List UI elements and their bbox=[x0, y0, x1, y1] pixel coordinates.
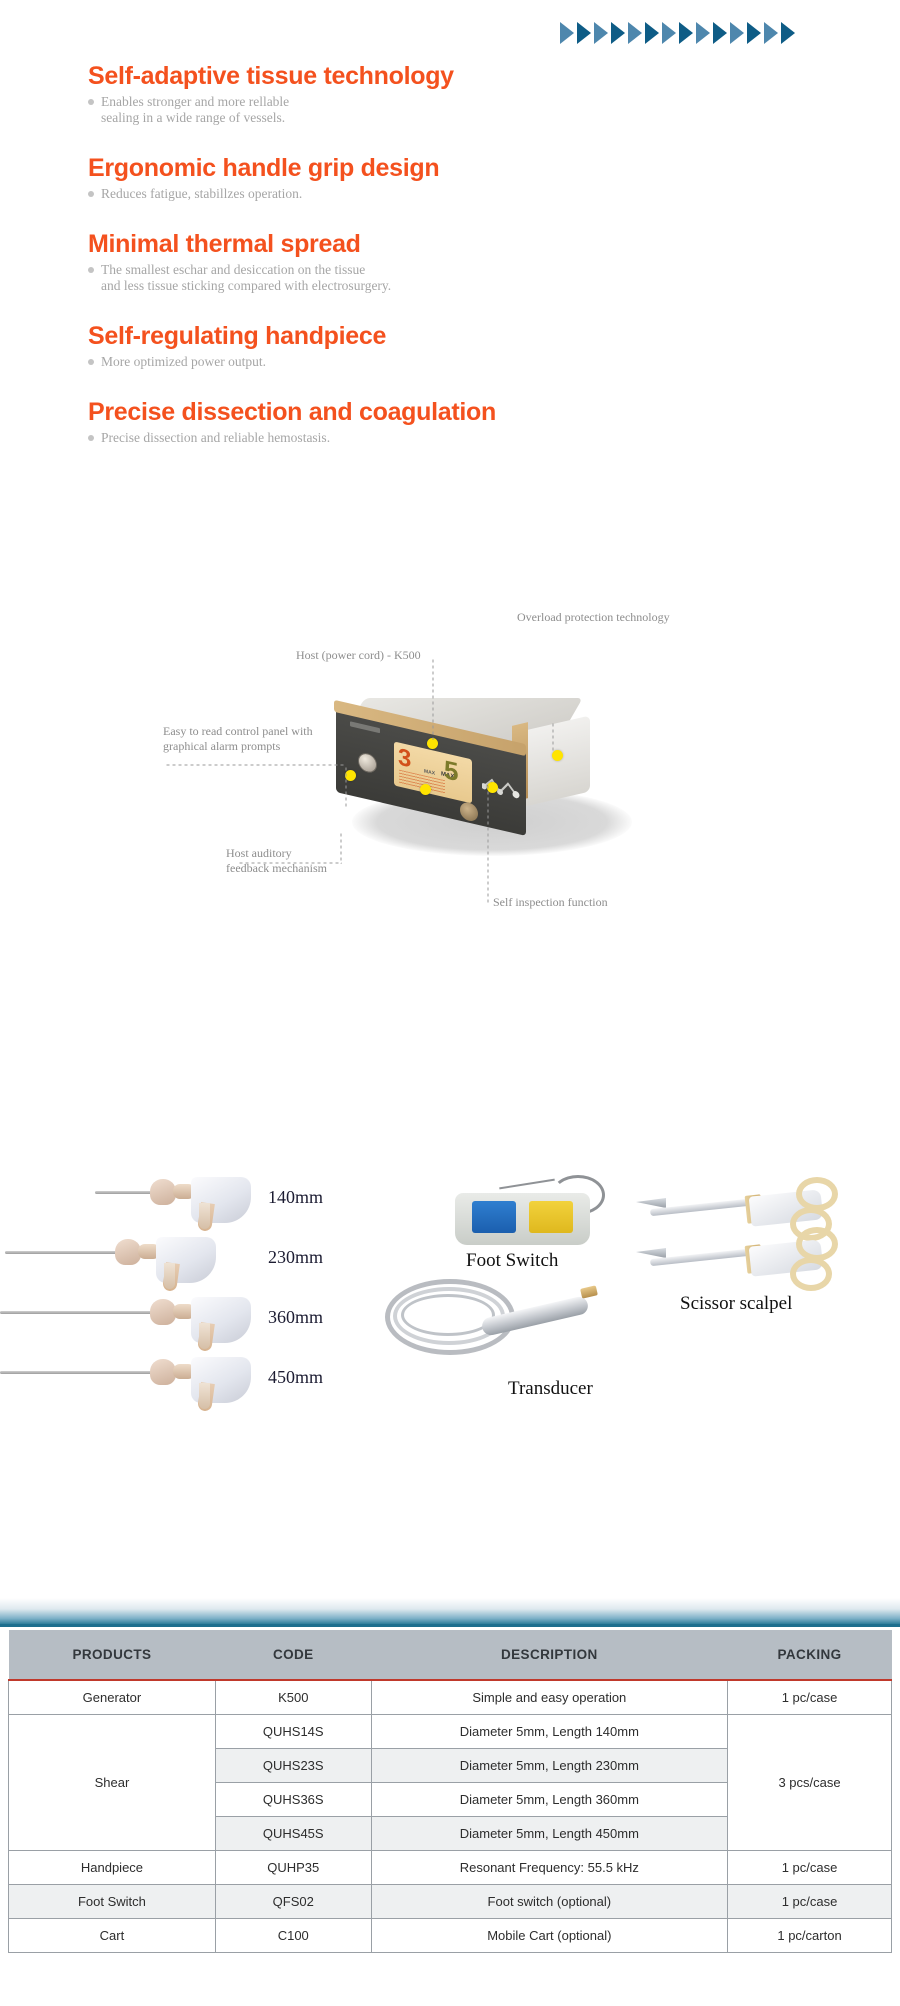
feature-description-text: Reduces fatigue, stabillzes operation. bbox=[101, 186, 302, 201]
table-body: GeneratorK500Simple and easy operation1 … bbox=[9, 1680, 892, 1953]
scalpel-finger-ring-top bbox=[796, 1177, 838, 1211]
cell-code: QUHS36S bbox=[215, 1783, 371, 1817]
specifications-table-wrap: PRODUCTS CODE DESCRIPTION PACKING Genera… bbox=[8, 1630, 892, 1953]
column-header-packing: PACKING bbox=[728, 1630, 892, 1680]
product-page: Self-adaptive tissue technology Enables … bbox=[0, 0, 900, 2006]
shear-trigger bbox=[199, 1203, 210, 1229]
cell-description: Diameter 5mm, Length 450mm bbox=[371, 1817, 727, 1851]
leader-line-overload bbox=[552, 722, 554, 752]
callout-host-auditory-feedback-mechanism: Host auditory feedback mechanism bbox=[226, 846, 327, 876]
scissor-scalpel-illustration-upper bbox=[650, 1183, 835, 1235]
foot-switch-wire bbox=[499, 1179, 555, 1190]
arrow-icon bbox=[713, 22, 727, 44]
feature-item-ergonomic-handle-grip-design: Ergonomic handle grip design Reduces fat… bbox=[88, 154, 878, 202]
bullet-dot-icon bbox=[88, 99, 94, 105]
shear-shaft bbox=[0, 1311, 157, 1314]
section-divider-band bbox=[0, 1598, 900, 1624]
table-head: PRODUCTS CODE DESCRIPTION PACKING bbox=[9, 1630, 892, 1680]
handpiece-port-icon bbox=[460, 801, 478, 823]
cell-code: QUHS23S bbox=[215, 1749, 371, 1783]
transducer-illustration bbox=[385, 1273, 605, 1363]
generator-device-image: 3 MAX MAX 5 bbox=[330, 698, 590, 816]
hotspot-dot-display bbox=[420, 784, 431, 795]
scalpel-jaw bbox=[636, 1198, 666, 1208]
feature-item-precise-dissection-and-coagulation: Precise dissection and coagulation Preci… bbox=[88, 398, 878, 446]
cell-product: Shear bbox=[9, 1715, 216, 1851]
cell-description: Simple and easy operation bbox=[371, 1680, 727, 1715]
arrow-icon bbox=[560, 22, 574, 44]
leader-line-auditory bbox=[340, 832, 342, 864]
feature-item-self-adaptive-tissue-technology: Self-adaptive tissue technology Enables … bbox=[88, 62, 878, 126]
cell-packing: 1 pc/case bbox=[728, 1885, 892, 1919]
feature-list: Self-adaptive tissue technology Enables … bbox=[88, 62, 878, 473]
cell-description: Diameter 5mm, Length 230mm bbox=[371, 1749, 727, 1783]
arrow-icon bbox=[679, 22, 693, 44]
shear-shaft bbox=[0, 1371, 157, 1374]
arrow-icon bbox=[781, 22, 795, 44]
table-row: HandpieceQUHP35Resonant Frequency: 55.5 … bbox=[9, 1851, 892, 1885]
feature-description-text: The smallest eschar and desiccation on t… bbox=[101, 262, 391, 293]
cell-description: Mobile Cart (optional) bbox=[371, 1919, 727, 1953]
cell-code: C100 bbox=[215, 1919, 371, 1953]
shear-length-label-450mm: 450mm bbox=[268, 1367, 323, 1388]
cell-code: QUHS14S bbox=[215, 1715, 371, 1749]
feature-item-self-regulating-handpiece: Self-regulating handpiece More optimized… bbox=[88, 322, 878, 370]
cell-description: Resonant Frequency: 55.5 kHz bbox=[371, 1851, 727, 1885]
feature-title: Self-adaptive tissue technology bbox=[88, 62, 878, 90]
feature-title: Self-regulating handpiece bbox=[88, 322, 878, 350]
cell-product: Handpiece bbox=[9, 1851, 216, 1885]
shear-shaft bbox=[5, 1251, 122, 1254]
shear-trigger bbox=[199, 1383, 210, 1409]
shear-shaft bbox=[95, 1191, 157, 1194]
accessory-label-scissor-scalpel: Scissor scalpel bbox=[680, 1293, 792, 1315]
feature-description: Precise dissection and reliable hemostas… bbox=[88, 430, 878, 446]
feature-description-text: More optimized power output. bbox=[101, 354, 266, 369]
bullet-dot-icon bbox=[88, 191, 94, 197]
arrow-ribbon-decoration bbox=[560, 22, 795, 44]
arrow-icon bbox=[594, 22, 608, 44]
foot-switch-pedal-blue bbox=[472, 1201, 516, 1233]
bullet-dot-icon bbox=[88, 359, 94, 365]
shear-length-label-140mm: 140mm bbox=[268, 1187, 323, 1208]
arrow-icon bbox=[611, 22, 625, 44]
feature-title: Ergonomic handle grip design bbox=[88, 154, 878, 182]
column-header-description: DESCRIPTION bbox=[371, 1630, 727, 1680]
power-knob-icon bbox=[358, 751, 377, 774]
table-row: CartC100Mobile Cart (optional)1 pc/carto… bbox=[9, 1919, 892, 1953]
section-divider-rule bbox=[0, 1624, 900, 1627]
cell-packing: 3 pcs/case bbox=[728, 1715, 892, 1851]
arrow-icon bbox=[764, 22, 778, 44]
cell-product: Generator bbox=[9, 1680, 216, 1715]
cell-packing: 1 pc/case bbox=[728, 1851, 892, 1885]
feature-description: More optimized power output. bbox=[88, 354, 878, 370]
bullet-dot-icon bbox=[88, 435, 94, 441]
arrow-icon bbox=[662, 22, 676, 44]
bullet-dot-icon bbox=[88, 267, 94, 273]
accessory-label-transducer: Transducer bbox=[508, 1378, 593, 1400]
cell-description: Diameter 5mm, Length 140mm bbox=[371, 1715, 727, 1749]
cell-packing: 1 pc/carton bbox=[728, 1919, 892, 1953]
transducer-tip bbox=[580, 1285, 598, 1298]
specifications-table: PRODUCTS CODE DESCRIPTION PACKING Genera… bbox=[8, 1630, 892, 1953]
transducer-cable-coil-innermost bbox=[401, 1294, 495, 1336]
table-row: GeneratorK500Simple and easy operation1 … bbox=[9, 1680, 892, 1715]
table-row: ShearQUHS14SDiameter 5mm, Length 140mm3 … bbox=[9, 1715, 892, 1749]
cell-product: Foot Switch bbox=[9, 1885, 216, 1919]
leader-line-power-cord bbox=[432, 658, 434, 740]
shear-length-label-230mm: 230mm bbox=[268, 1247, 323, 1268]
callout-host-power-cord: Host (power cord) - K500 bbox=[296, 648, 421, 663]
arrow-icon bbox=[577, 22, 591, 44]
arrow-icon bbox=[628, 22, 642, 44]
control-display-screen: 3 MAX MAX 5 bbox=[394, 741, 472, 803]
leader-line-control-panel-vertical bbox=[345, 766, 347, 808]
cell-code: K500 bbox=[215, 1680, 371, 1715]
table-header-row: PRODUCTS CODE DESCRIPTION PACKING bbox=[9, 1630, 892, 1680]
accessory-label-foot-switch: Foot Switch bbox=[466, 1250, 558, 1272]
table-row: Foot SwitchQFS02Foot switch (optional)1 … bbox=[9, 1885, 892, 1919]
generator-diagram: 3 MAX MAX 5 bbox=[0, 690, 900, 1230]
leader-line-self-inspection bbox=[487, 784, 489, 904]
callout-self-inspection-function: Self inspection function bbox=[493, 895, 608, 910]
scalpel-finger-ring-top bbox=[796, 1227, 838, 1261]
column-header-code: CODE bbox=[215, 1630, 371, 1680]
leader-line-control-panel bbox=[165, 764, 345, 766]
brand-logo-icon bbox=[350, 721, 380, 733]
feature-description: The smallest eschar and desiccation on t… bbox=[88, 262, 878, 294]
product-lineup: 140mm 230mm 360mm 450mm bbox=[0, 1155, 900, 1400]
foot-switch-illustration bbox=[455, 1175, 600, 1250]
foot-switch-pedal-yellow bbox=[529, 1201, 573, 1233]
shear-trigger bbox=[164, 1263, 175, 1289]
display-value-right: 5 bbox=[444, 754, 458, 788]
shear-length-label-360mm: 360mm bbox=[268, 1307, 323, 1328]
arrow-icon bbox=[730, 22, 744, 44]
cell-code: QUHS45S bbox=[215, 1817, 371, 1851]
feature-description-text: Enables stronger and more rellable seali… bbox=[101, 94, 289, 125]
cell-description: Diameter 5mm, Length 360mm bbox=[371, 1783, 727, 1817]
arrow-icon bbox=[747, 22, 761, 44]
cell-packing: 1 pc/case bbox=[728, 1680, 892, 1715]
cell-description: Foot switch (optional) bbox=[371, 1885, 727, 1919]
scalpel-jaw bbox=[636, 1248, 666, 1258]
feature-item-minimal-thermal-spread: Minimal thermal spread The smallest esch… bbox=[88, 230, 878, 294]
feature-title: Precise dissection and coagulation bbox=[88, 398, 878, 426]
scissor-scalpel-illustration-lower bbox=[650, 1233, 835, 1285]
callout-easy-to-read-control-panel: Easy to read control panel with graphica… bbox=[163, 724, 313, 754]
cell-product: Cart bbox=[9, 1919, 216, 1953]
scalpel-finger-ring-bottom bbox=[790, 1257, 832, 1291]
arrow-icon bbox=[645, 22, 659, 44]
arrow-icon bbox=[696, 22, 710, 44]
cell-code: QFS02 bbox=[215, 1885, 371, 1919]
column-header-products: PRODUCTS bbox=[9, 1630, 216, 1680]
cell-code: QUHP35 bbox=[215, 1851, 371, 1885]
callout-overload-protection-technology: Overload protection technology bbox=[517, 610, 670, 625]
feature-title: Minimal thermal spread bbox=[88, 230, 878, 258]
feature-description: Reduces fatigue, stabillzes operation. bbox=[88, 186, 878, 202]
feature-description-text: Precise dissection and reliable hemostas… bbox=[101, 430, 330, 445]
shear-trigger bbox=[199, 1323, 210, 1349]
feature-description: Enables stronger and more rellable seali… bbox=[88, 94, 878, 126]
